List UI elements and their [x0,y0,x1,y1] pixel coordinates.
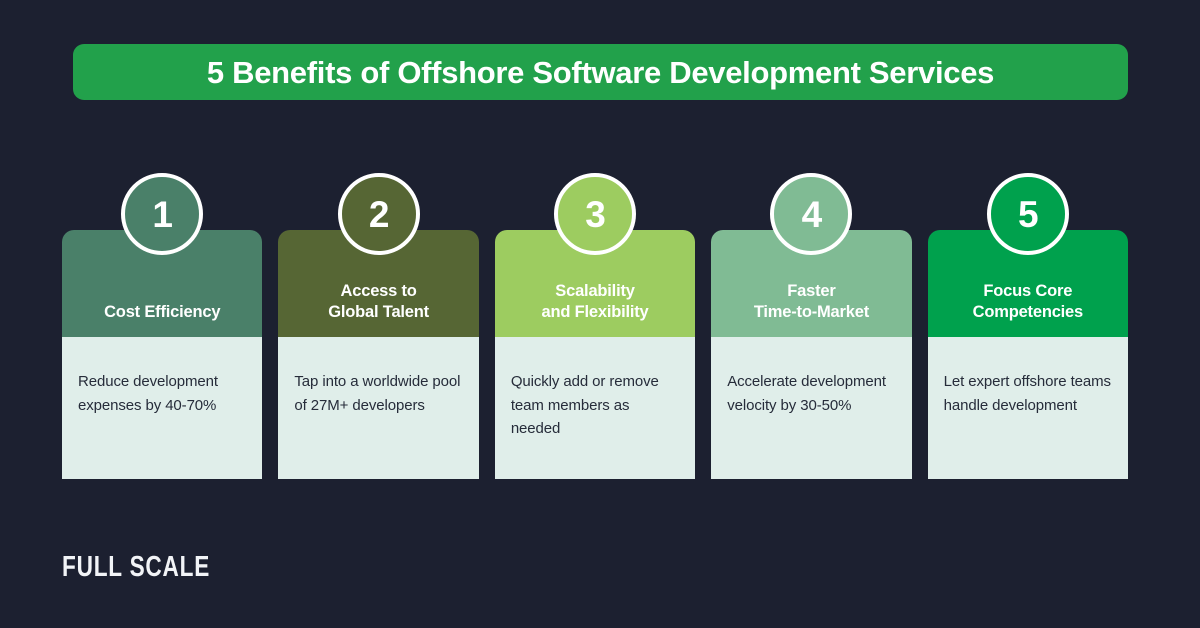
benefit-description-2: Tap into a worldwide pool of 27M+ develo… [294,373,460,414]
benefit-badge-1: 1 [121,173,203,255]
brand-logo-text: FULL SCALE [62,553,210,582]
benefit-card-body-4: Accelerate development velocity by 30-50… [711,337,911,479]
benefit-number-1: 1 [152,196,172,233]
benefit-badge-2: 2 [338,173,420,255]
page-title: 5 Benefits of Offshore Software Developm… [207,57,994,88]
benefit-card-body-5: Let expert offshore teams handle develop… [928,337,1128,479]
benefit-title-4-line-1: Faster [787,282,835,300]
benefit-title-3-line-1: Scalability [555,282,634,300]
benefit-card-body-2: Tap into a worldwide pool of 27M+ develo… [278,337,478,479]
benefit-card-3[interactable]: 3 Scalability and Flexibility Quickly ad… [495,230,695,479]
benefit-description-4: Accelerate development velocity by 30-50… [727,373,886,414]
benefit-card-1[interactable]: 1 Cost Efficiency Reduce development exp… [62,230,262,479]
benefit-card-2[interactable]: 2 Access to Global Talent Tap into a wor… [278,230,478,479]
benefit-number-4: 4 [802,196,822,233]
benefit-description-3: Quickly add or remove team members as ne… [511,373,659,437]
brand-logo[interactable]: FULL SCALE [62,553,252,582]
benefit-card-body-3: Quickly add or remove team members as ne… [495,337,695,479]
benefit-title-5-line-1: Focus Core [983,282,1072,300]
benefit-number-5: 5 [1018,196,1038,233]
benefit-title-1: Cost Efficiency [104,302,220,323]
benefit-description-5: Let expert offshore teams handle develop… [944,373,1111,414]
benefit-card-4[interactable]: 4 Faster Time-to-Market Accelerate devel… [711,230,911,479]
benefit-title-4: Faster Time-to-Market [754,281,869,323]
benefit-title-3: Scalability and Flexibility [542,281,649,323]
benefit-title-2: Access to Global Talent [328,281,429,323]
title-banner: 5 Benefits of Offshore Software Developm… [73,44,1128,100]
benefit-title-2-line-2: Global Talent [328,303,429,321]
benefit-number-3: 3 [585,196,605,233]
benefit-title-5: Focus Core Competencies [973,281,1083,323]
benefit-title-3-line-2: and Flexibility [542,303,649,321]
benefit-description-1: Reduce development expenses by 40-70% [78,373,218,414]
benefit-title-2-line-1: Access to [341,282,417,300]
benefit-title-4-line-2: Time-to-Market [754,303,869,321]
benefit-badge-3: 3 [554,173,636,255]
benefit-card-body-1: Reduce development expenses by 40-70% [62,337,262,479]
benefit-card-5[interactable]: 5 Focus Core Competencies Let expert off… [928,230,1128,479]
benefit-badge-5: 5 [987,173,1069,255]
benefit-cards-row: 1 Cost Efficiency Reduce development exp… [62,230,1128,479]
benefit-title-5-line-2: Competencies [973,303,1083,321]
benefit-number-2: 2 [369,196,389,233]
benefit-badge-4: 4 [770,173,852,255]
